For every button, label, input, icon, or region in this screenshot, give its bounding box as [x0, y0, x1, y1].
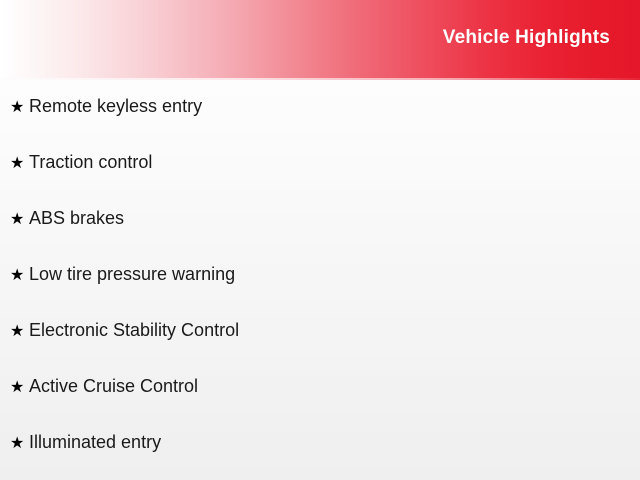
list-item: ★ ABS brakes	[0, 209, 640, 265]
highlight-label: Active Cruise Control	[29, 377, 198, 395]
highlight-label: Traction control	[29, 153, 152, 171]
page-title: Vehicle Highlights	[443, 27, 610, 49]
highlight-label: Remote keyless entry	[29, 97, 202, 115]
star-icon: ★	[10, 156, 29, 172]
list-item: ★ Low tire pressure warning	[0, 265, 640, 321]
list-item: ★ Remote keyless entry	[0, 97, 640, 153]
highlight-label: Electronic Stability Control	[29, 321, 239, 339]
list-item: ★ Electronic Stability Control	[0, 321, 640, 377]
highlight-label: Illuminated entry	[29, 433, 161, 451]
star-icon: ★	[10, 212, 29, 228]
list-item: ★ Traction control	[0, 153, 640, 209]
star-icon: ★	[10, 100, 29, 116]
highlight-label: Low tire pressure warning	[29, 265, 235, 283]
list-item: ★ Illuminated entry	[0, 433, 640, 480]
star-icon: ★	[10, 436, 29, 452]
list-item: ★ Active Cruise Control	[0, 377, 640, 433]
highlight-label: ABS brakes	[29, 209, 124, 227]
vehicle-highlights-list: ★ Remote keyless entry ★ Traction contro…	[0, 78, 640, 480]
star-icon: ★	[10, 268, 29, 284]
star-icon: ★	[10, 324, 29, 340]
star-icon: ★	[10, 380, 29, 396]
header-banner: Vehicle Highlights	[0, 0, 640, 78]
